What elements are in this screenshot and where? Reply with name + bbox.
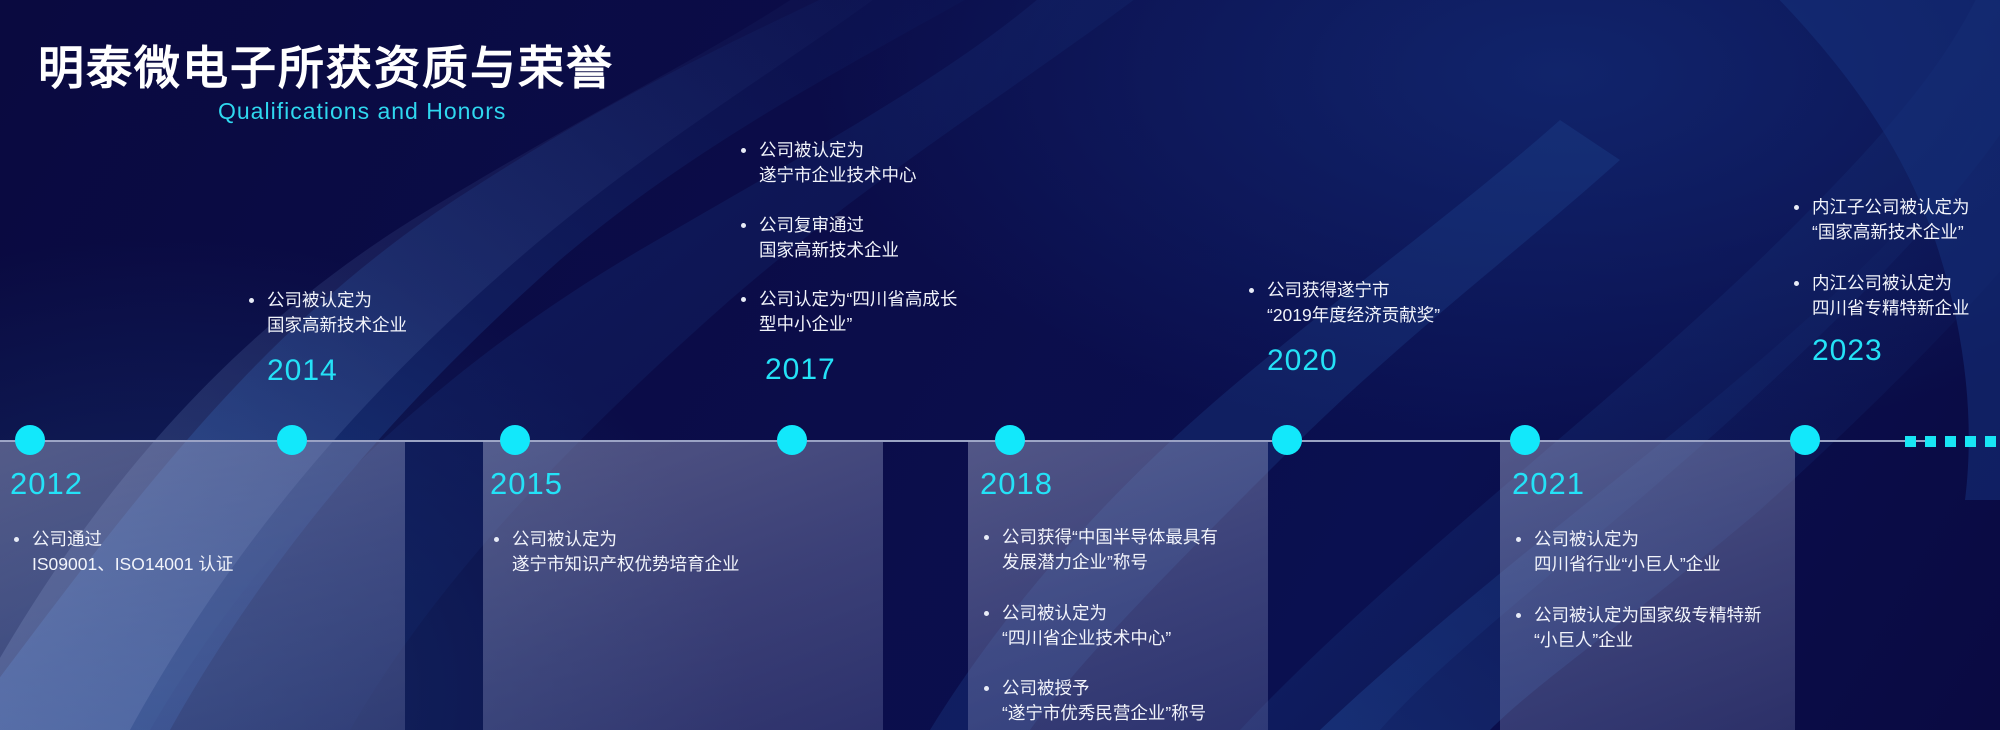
year-label-2018: 2018	[980, 468, 1280, 499]
timeline-entry-2014: 公司被认定为 国家高新技术企业 2014	[245, 288, 555, 386]
bullet-item: 公司获得“中国半导体最具有 发展潜力企业”称号	[980, 525, 1280, 575]
timeline-node-2018[interactable]	[995, 425, 1025, 455]
page-title: 明泰微电子所获资质与荣誉	[38, 32, 614, 98]
page-subtitle: Qualifications and Honors	[218, 98, 506, 125]
timeline-node-2023[interactable]	[1790, 425, 1820, 455]
year-label-2015: 2015	[490, 468, 790, 499]
bullet-item: 公司获得遂宁市 “2019年度经济贡献奖”	[1245, 278, 1545, 328]
timeline-entry-2023: 内江子公司被认定为 “国家高新技术企业” 内江公司被认定为 四川省专精特新企业 …	[1790, 195, 2000, 366]
year-label-2012: 2012	[10, 468, 410, 499]
timeline-axis-dashes	[1905, 436, 2000, 447]
timeline-entry-2021: 2021 公司被认定为 四川省行业“小巨人”企业 公司被认定为国家级专精特新 “…	[1512, 468, 1842, 652]
axis-dash	[1965, 436, 1976, 447]
timeline-entry-2015: 2015 公司被认定为 遂宁市知识产权优势培育企业	[490, 468, 790, 595]
axis-dash	[1905, 436, 1916, 447]
bullet-item: 公司复审通过 国家高新技术企业	[737, 213, 1057, 263]
bullet-item: 内江子公司被认定为 “国家高新技术企业”	[1790, 195, 2000, 245]
bullet-item: 公司被授予 “遂宁市优秀民营企业”称号	[980, 676, 1280, 726]
bullet-item: 公司被认定为 遂宁市知识产权优势培育企业	[490, 527, 790, 577]
axis-dash	[1945, 436, 1956, 447]
timeline-node-2015[interactable]	[500, 425, 530, 455]
timeline-node-2017[interactable]	[777, 425, 807, 455]
timeline-entry-2018: 2018 公司获得“中国半导体最具有 发展潜力企业”称号 公司被认定为 “四川省…	[980, 468, 1280, 726]
timeline-node-2012[interactable]	[15, 425, 45, 455]
timeline-node-2020[interactable]	[1272, 425, 1302, 455]
timeline-node-2021[interactable]	[1510, 425, 1540, 455]
year-label-2023: 2023	[1812, 336, 2000, 366]
timeline-entry-2017: 公司被认定为 遂宁市企业技术中心 公司复审通过 国家高新技术企业 公司认定为“四…	[737, 138, 1057, 385]
bullet-item: 公司被认定为国家级专精特新 “小巨人”企业	[1512, 603, 1842, 653]
axis-dash	[1925, 436, 1936, 447]
bullet-item: 内江公司被认定为 四川省专精特新企业	[1790, 271, 2000, 321]
slide-canvas: 明泰微电子所获资质与荣誉 Qualifications and Honors 2…	[0, 0, 2000, 730]
bullet-item: 公司被认定为 “四川省企业技术中心”	[980, 601, 1280, 651]
bullet-item: 公司被认定为 遂宁市企业技术中心	[737, 138, 1057, 188]
bullet-item: 公司被认定为 四川省行业“小巨人”企业	[1512, 527, 1842, 577]
year-label-2021: 2021	[1512, 468, 1842, 499]
year-label-2020: 2020	[1267, 346, 1545, 376]
axis-dash	[1985, 436, 1996, 447]
year-label-2017: 2017	[765, 355, 1057, 385]
timeline-node-2014[interactable]	[277, 425, 307, 455]
bullet-item: 公司认定为“四川省高成长 型中小企业”	[737, 287, 1057, 337]
year-label-2014: 2014	[267, 356, 555, 386]
bullet-item: 公司通过 IS09001、ISO14001 认证	[10, 527, 410, 577]
timeline-entry-2012: 2012 公司通过 IS09001、ISO14001 认证	[10, 468, 410, 595]
bullet-item: 公司被认定为 国家高新技术企业	[245, 288, 555, 338]
timeline-entry-2020: 公司获得遂宁市 “2019年度经济贡献奖” 2020	[1245, 278, 1545, 376]
